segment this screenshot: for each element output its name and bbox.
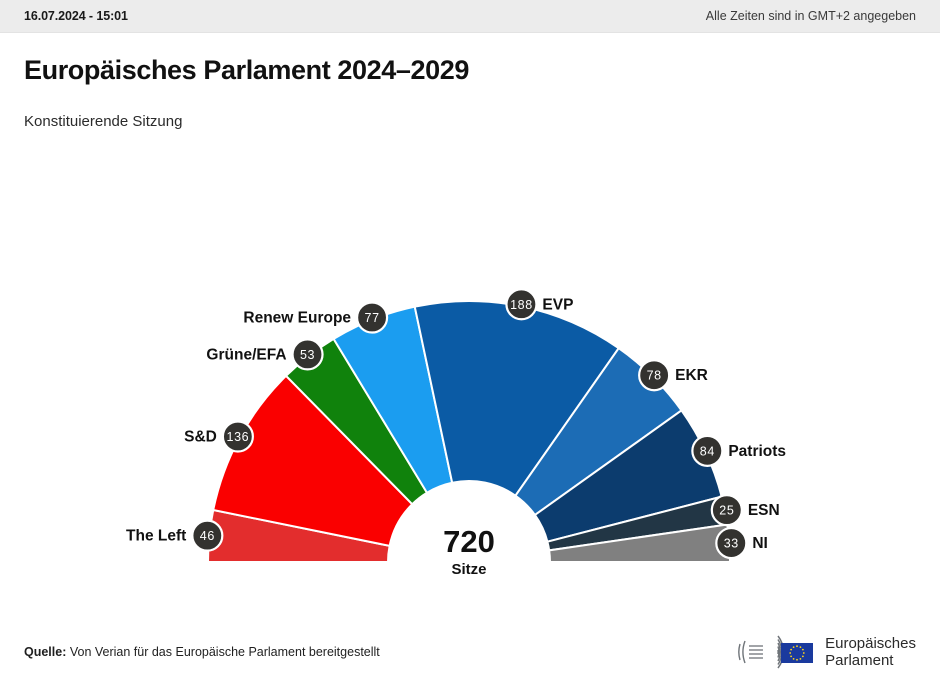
group-label-ekr: EKR [675, 367, 708, 384]
logo-text: Europäisches Parlament [825, 635, 916, 669]
heading-block: Europäisches Parlament 2024–2029 Konstit… [0, 33, 940, 130]
group-label-patriots: Patriots [728, 443, 786, 460]
group-label-renew-europe: Renew Europe [243, 310, 351, 327]
group-label-s-d: S&D [184, 429, 217, 446]
seat-count-value: 46 [200, 529, 215, 543]
total-seats-value: 720 [443, 524, 495, 559]
timezone-note: Alle Zeiten sind in GMT+2 angegeben [706, 9, 916, 23]
logo-text-line2: Parlament [825, 652, 916, 669]
total-seats-unit: Sitze [451, 561, 486, 578]
seat-count-value: 84 [700, 444, 715, 458]
group-label-esn: ESN [748, 502, 780, 519]
seat-count-value: 77 [365, 311, 380, 325]
hemicycle-logo-icon [738, 632, 816, 672]
segments-layer [208, 301, 730, 562]
european-parliament-logo: Europäisches Parlament [738, 632, 916, 672]
hemicycle-svg: 720 Sitze The LeftS&DGrüne/EFARenew Euro… [0, 140, 940, 610]
footer: Quelle: Von Verian für das Europäische P… [0, 616, 940, 688]
group-label-evp: EVP [542, 296, 573, 313]
center-total-label: 720 Sitze [443, 524, 495, 578]
source-note: Quelle: Von Verian für das Europäische P… [24, 645, 380, 659]
page-title: Europäisches Parlament 2024–2029 [24, 55, 916, 86]
group-label-gr-ne-efa: Grüne/EFA [206, 346, 286, 363]
seat-count-value: 53 [300, 348, 315, 362]
source-text: Von Verian für das Europäische Parlament… [70, 645, 380, 659]
seat-count-value: 188 [510, 298, 533, 312]
seat-count-value: 25 [719, 504, 734, 518]
hemicycle-chart: 720 Sitze The LeftS&DGrüne/EFARenew Euro… [0, 140, 940, 610]
seat-count-value: 78 [647, 369, 662, 383]
top-bar: 16.07.2024 - 15:01 Alle Zeiten sind in G… [0, 0, 940, 33]
seat-count-value: 33 [724, 537, 739, 551]
logo-text-line1: Europäisches [825, 635, 916, 652]
group-label-ni: NI [752, 535, 768, 552]
timestamp: 16.07.2024 - 15:01 [24, 9, 128, 23]
page-subtitle: Konstituierende Sitzung [24, 113, 916, 130]
seat-count-value: 136 [227, 430, 250, 444]
group-label-the-left: The Left [126, 528, 186, 545]
source-label: Quelle: [24, 645, 66, 659]
